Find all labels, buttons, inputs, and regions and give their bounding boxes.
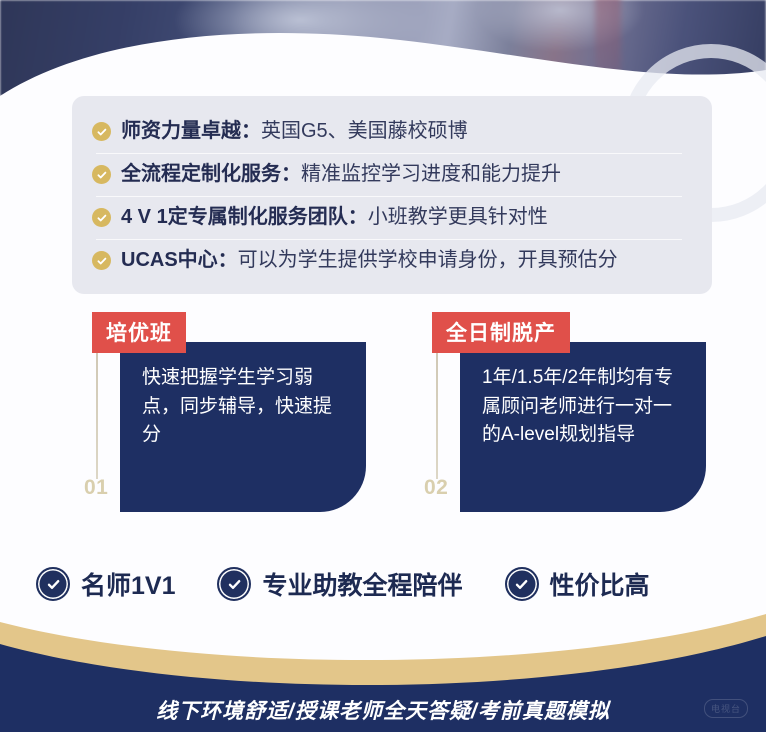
check-circle-icon bbox=[505, 567, 539, 601]
check-circle-icon bbox=[36, 567, 70, 601]
promo-poster: 师资力量卓越：英国G5、美国藤校硕博 全流程定制化服务：精准监控学习进度和能力提… bbox=[0, 0, 766, 732]
feature-item-lead: UCAS中心： bbox=[121, 249, 238, 271]
card-tag-label: 全日制脱产 bbox=[432, 312, 570, 353]
feature-item-text: 4 V 1定专属制化服务团队：小班教学更具针对性 bbox=[121, 205, 548, 230]
highlight-row: 名师1V1 专业助教全程陪伴 性价比高 bbox=[0, 566, 766, 602]
highlight-item: 性价比高 bbox=[505, 566, 650, 602]
feature-item: 4 V 1定专属制化服务团队：小班教学更具针对性 bbox=[72, 196, 712, 239]
footer-tagline: 线下环境舒适/授课老师全天答疑/考前真题模拟 bbox=[0, 695, 766, 725]
feature-item-lead: 4 V 1定专属制化服务团队： bbox=[121, 206, 368, 228]
check-circle-icon bbox=[92, 122, 111, 141]
check-circle-icon bbox=[217, 567, 251, 601]
feature-list-panel: 师资力量卓越：英国G5、美国藤校硕博 全流程定制化服务：精准监控学习进度和能力提… bbox=[72, 96, 712, 294]
card-body-text: 快速把握学生学习弱点，同步辅导，快速提分 bbox=[142, 364, 348, 450]
check-circle-icon bbox=[92, 251, 111, 270]
check-circle-icon bbox=[92, 208, 111, 227]
program-cards: 01 培优班 快速把握学生学习弱点，同步辅导，快速提分 02 全日制脱产 1年/… bbox=[72, 312, 712, 512]
feature-item: 师资力量卓越：英国G5、美国藤校硕博 bbox=[72, 110, 712, 153]
feature-item-rest: 可以为学生提供学校申请身份，开具预估分 bbox=[238, 249, 618, 271]
feature-item-lead: 师资力量卓越： bbox=[121, 120, 261, 142]
feature-item: UCAS中心：可以为学生提供学校申请身份，开具预估分 bbox=[72, 239, 712, 282]
card-body: 1年/1.5年/2年制均有专属顾问老师进行一对一的A-level规划指导 bbox=[460, 342, 706, 512]
feature-item-text: 全流程定制化服务：精准监控学习进度和能力提升 bbox=[121, 162, 561, 187]
highlight-item: 专业助教全程陪伴 bbox=[217, 566, 462, 602]
highlight-label: 名师1V1 bbox=[81, 566, 175, 602]
feature-item-text: UCAS中心：可以为学生提供学校申请身份，开具预估分 bbox=[121, 248, 618, 273]
feature-item-text: 师资力量卓越：英国G5、美国藤校硕博 bbox=[121, 119, 468, 144]
feature-item-lead: 全流程定制化服务： bbox=[121, 163, 301, 185]
card-number: 01 bbox=[84, 476, 108, 500]
card-tag-label: 培优班 bbox=[92, 312, 186, 353]
highlight-label: 专业助教全程陪伴 bbox=[262, 566, 462, 602]
feature-item-rest: 精准监控学习进度和能力提升 bbox=[301, 163, 561, 185]
feature-item-rest: 英国G5、美国藤校硕博 bbox=[261, 120, 468, 142]
check-circle-icon bbox=[92, 165, 111, 184]
feature-item-rest: 小班教学更具针对性 bbox=[368, 206, 548, 228]
card-body: 快速把握学生学习弱点，同步辅导，快速提分 bbox=[120, 342, 366, 512]
program-card: 01 培优班 快速把握学生学习弱点，同步辅导，快速提分 bbox=[78, 312, 366, 512]
card-body-text: 1年/1.5年/2年制均有专属顾问老师进行一对一的A-level规划指导 bbox=[482, 364, 688, 450]
card-rail-line bbox=[436, 342, 438, 479]
watermark-badge: 电视台 bbox=[704, 699, 748, 718]
highlight-label: 性价比高 bbox=[550, 566, 650, 602]
card-number: 02 bbox=[424, 476, 448, 500]
card-rail-line bbox=[96, 342, 98, 479]
highlight-item: 名师1V1 bbox=[36, 566, 175, 602]
feature-item: 全流程定制化服务：精准监控学习进度和能力提升 bbox=[72, 153, 712, 196]
program-card: 02 全日制脱产 1年/1.5年/2年制均有专属顾问老师进行一对一的A-leve… bbox=[418, 312, 706, 512]
